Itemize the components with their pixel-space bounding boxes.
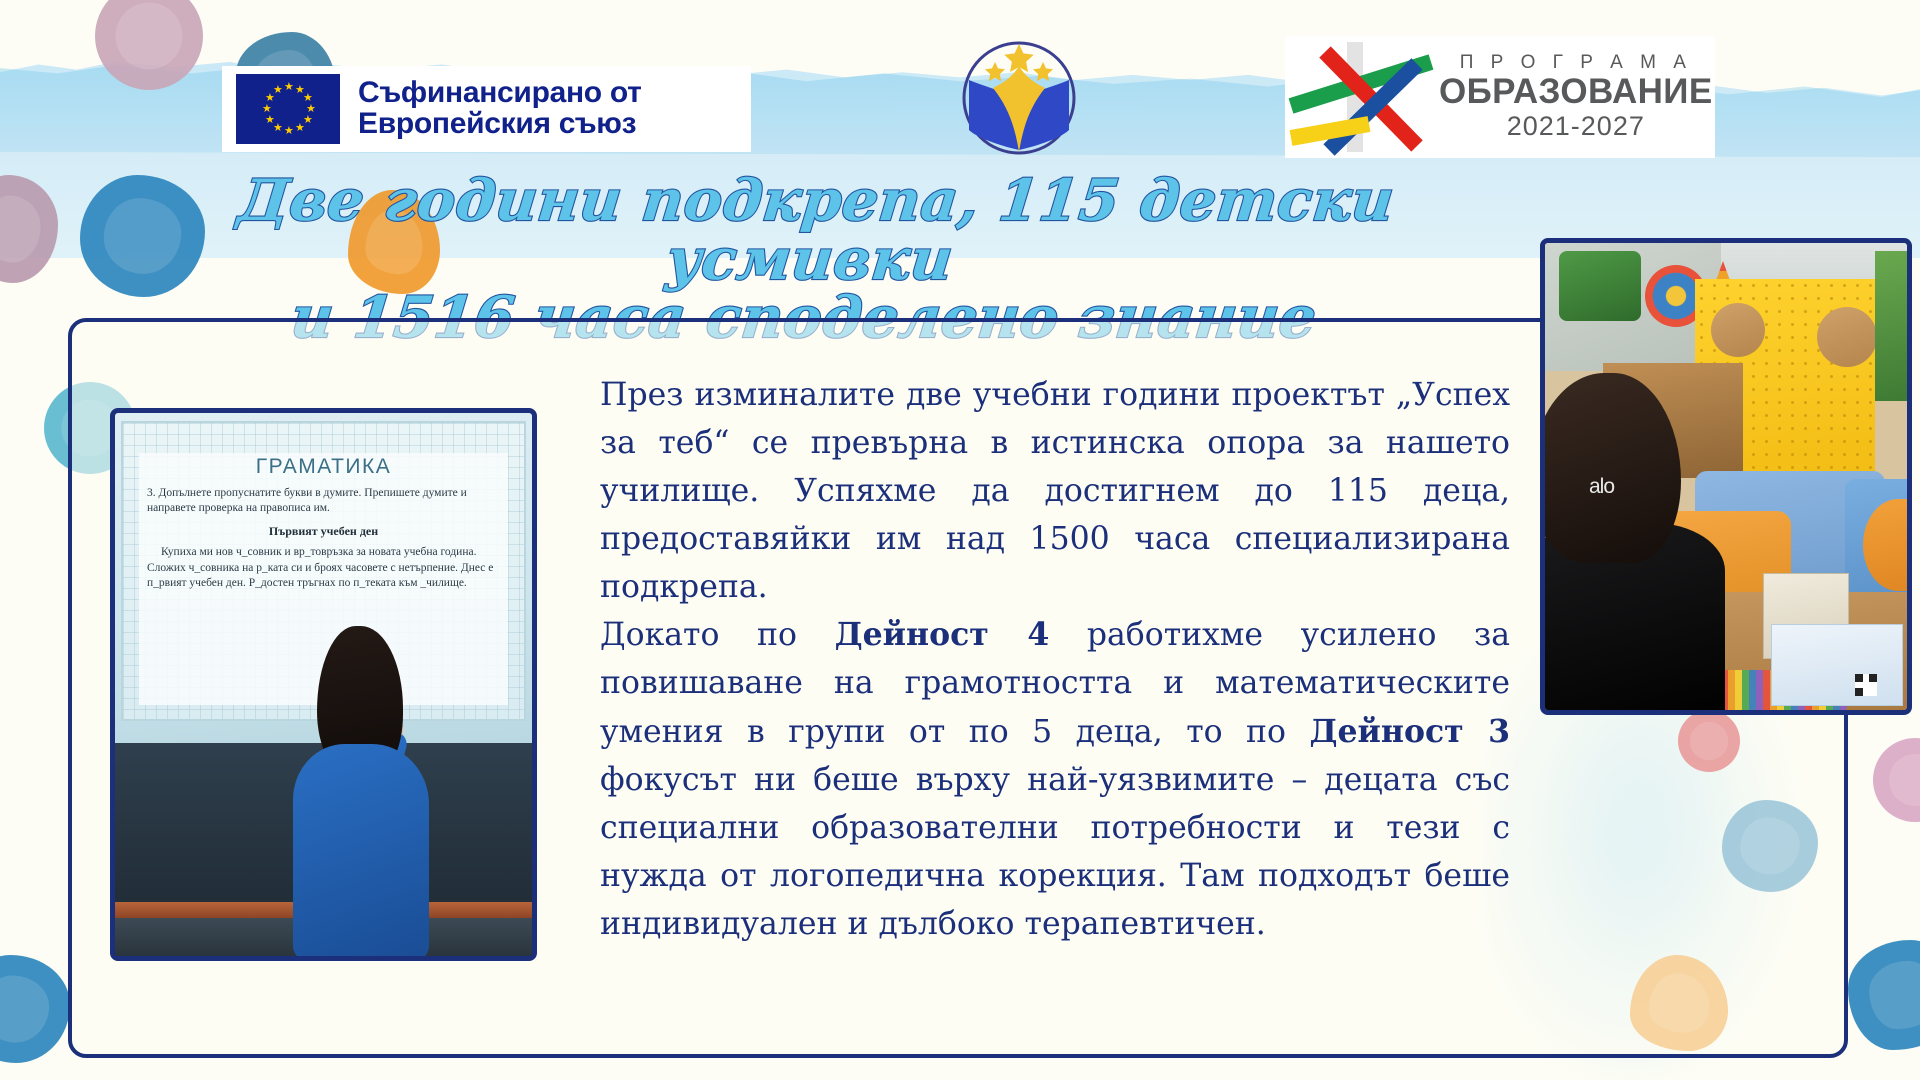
child-figure: [1540, 373, 1721, 715]
school-emblem-icon: [953, 32, 1085, 164]
program-label-line2: ОБРАЗОВАНИЕ: [1439, 74, 1713, 111]
worksheet-book: [1771, 624, 1903, 706]
blob-pink-right: [1873, 738, 1920, 822]
student-shirt: [293, 744, 429, 959]
eu-star-icon: ★: [284, 127, 292, 135]
eu-star-icon: ★: [265, 116, 273, 124]
child-hair: [1540, 373, 1681, 563]
slide-task-text: 3. Допълнете пропуснатите букви в думите…: [147, 486, 500, 515]
photo-therapy-room-activity: alo: [1540, 238, 1912, 715]
eu-star-icon: ★: [295, 124, 303, 132]
program-ribbon-icon: [1285, 38, 1435, 156]
blob-blue-bl: [0, 955, 70, 1063]
student-figure: [283, 626, 433, 956]
body-run: През изминалите две учебни години проект…: [600, 377, 1510, 605]
activity-label: Дейност 3: [1309, 713, 1510, 750]
slide-title-grammar: ГРАМАТИКА: [139, 455, 508, 479]
eu-cofunded-logo: ★★★★★★★★★★★★ Съфинансирано от Европейски…: [222, 66, 751, 152]
qr-code-icon: [1855, 674, 1877, 696]
blob-mauve-left-highlight: [0, 196, 41, 263]
blob-blue-br-highlight: [1869, 961, 1920, 1029]
program-label-line1: П Р О Г Р А М А: [1439, 52, 1713, 74]
eu-star-icon: ★: [284, 83, 292, 91]
eu-star-icon: ★: [265, 94, 273, 102]
program-label-line3: 2021-2027: [1439, 111, 1713, 142]
toy-green-board: [1559, 251, 1641, 321]
body-run: Докато по: [600, 617, 835, 653]
blob-mauve-top-highlight: [116, 3, 183, 70]
eu-star-icon: ★: [262, 105, 270, 113]
blue-orange-soft-block: [1845, 479, 1912, 599]
shirt-logo-text: alo: [1589, 475, 1614, 499]
slide-canvas: ★★★★★★★★★★★★ Съфинансирано от Европейски…: [0, 0, 1920, 1080]
blob-blue-bl-highlight: [0, 976, 49, 1043]
slide-exercise-text: Купиха ми нов ч_совник и вр_товръзка за …: [147, 545, 500, 592]
wooden-clock-right: [1817, 307, 1877, 367]
photo-classroom-grammar-lesson: ГРАМАТИКА 3. Допълнете пропуснатите букв…: [110, 408, 537, 961]
eu-flag-icon: ★★★★★★★★★★★★: [236, 74, 340, 144]
eu-star-icon: ★: [295, 86, 303, 94]
blob-blue-br: [1848, 940, 1920, 1050]
body-run: фокусът ни беше върху най-уязвимите – де…: [600, 762, 1510, 942]
program-education-logo: П Р О Г Р А М А ОБРАЗОВАНИЕ 2021-2027: [1285, 36, 1715, 158]
blob-pink-right-highlight: [1889, 754, 1920, 806]
eu-star-icon: ★: [306, 105, 314, 113]
body-paragraphs: През изминалите две учебни години проект…: [600, 372, 1510, 949]
eu-cofunded-label: Съфинансирано от Европейския съюз: [358, 78, 642, 139]
wooden-clock-left: [1711, 303, 1765, 357]
eu-star-icon: ★: [273, 86, 281, 94]
green-cabinet: [1875, 251, 1912, 401]
slide-subtitle: Първият учебен ден: [139, 524, 508, 539]
body-paragraph: През изминалите две учебни години проект…: [600, 372, 1510, 611]
activity-label: Дейност 4: [835, 616, 1050, 653]
body-paragraph: Докато по Дейност 4 работихме усилено за…: [600, 611, 1510, 948]
eu-star-icon: ★: [303, 94, 311, 102]
